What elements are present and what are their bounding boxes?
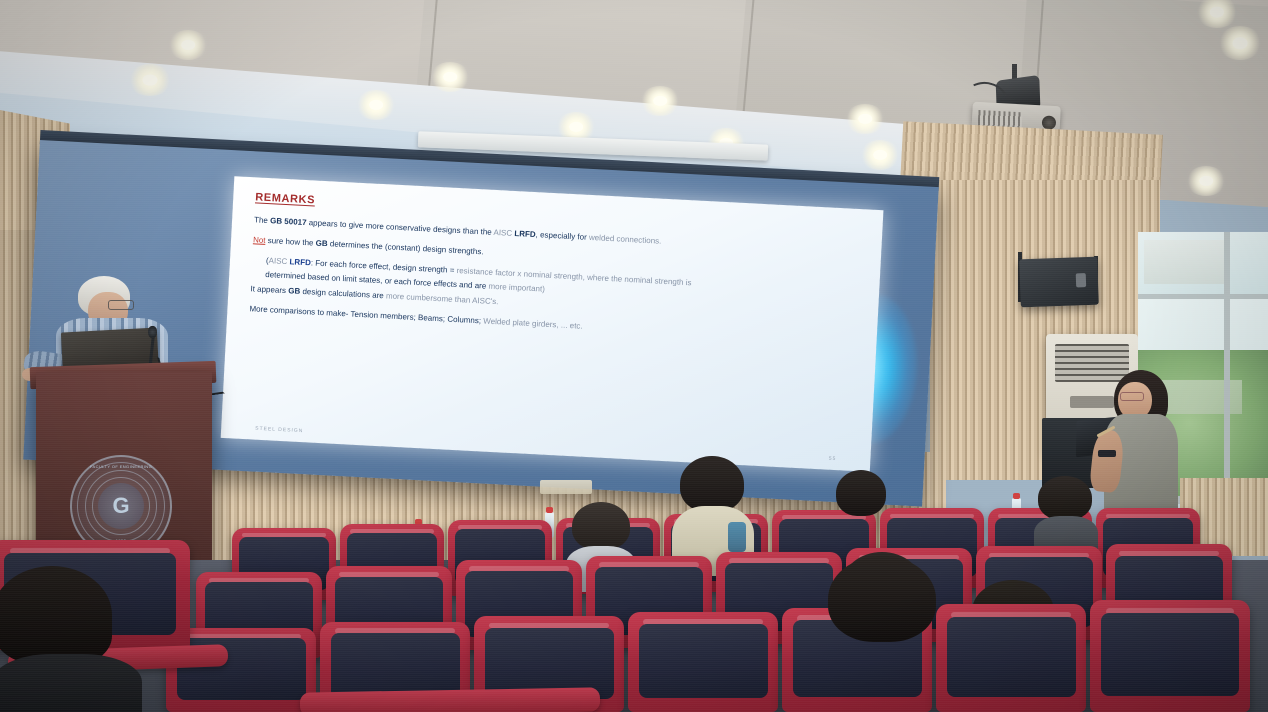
seat-armrest xyxy=(300,687,600,712)
attendee-glasses xyxy=(1120,392,1144,401)
slide-text-run: Not xyxy=(253,235,266,245)
slide-text-run: It appears xyxy=(250,284,288,295)
foreground-attendee xyxy=(828,556,948,686)
slide-text-run: . xyxy=(496,297,499,306)
slide-text-run: GB xyxy=(288,286,300,296)
emblem-monogram: G xyxy=(98,483,144,529)
slide-text-run: ) xyxy=(542,285,545,294)
slide-text-run: Welded plate girders xyxy=(483,316,557,329)
slide-text-run: LRFD xyxy=(514,229,536,239)
emblem-top-text: FACULTY OF ENGINEERING xyxy=(72,464,170,469)
slide-text-run: AISC xyxy=(268,256,287,266)
slide-text-run: LRFD xyxy=(289,257,311,267)
wall-speaker xyxy=(1019,257,1099,308)
auditorium-seat[interactable] xyxy=(1090,600,1250,712)
window-mullion-vertical xyxy=(1224,232,1230,500)
slide-text-run: AISC xyxy=(493,228,512,238)
ceiling-downlight xyxy=(860,140,900,170)
ceiling-downlight xyxy=(430,62,470,92)
slide-text-run: The xyxy=(254,215,270,225)
slide-page-number: 55 xyxy=(829,456,837,462)
ceiling-downlight xyxy=(1218,26,1262,60)
slide-text-run: more important xyxy=(488,282,542,294)
slide-text-run: connections. xyxy=(614,234,662,245)
slide-text-run: , especially for xyxy=(535,230,589,242)
ceiling-downlight xyxy=(845,104,885,134)
foreground-attendee xyxy=(0,566,132,712)
exterior-building xyxy=(1144,240,1230,284)
slide-text-run: GB 50017 xyxy=(270,216,307,227)
auditorium-seat[interactable] xyxy=(936,604,1086,712)
ceiling-downlight xyxy=(356,90,396,120)
slide-text-run: appears to give more conservative design… xyxy=(306,218,493,237)
slide-text-run: sure how the xyxy=(265,236,316,248)
ceiling-downlight xyxy=(1186,166,1226,196)
slide-text-run: : For each force effect, design strength… xyxy=(311,258,457,275)
slide-text-run: resistance factor x nominal strength xyxy=(456,266,583,282)
slide-text-run: determines the (constant) design strengt… xyxy=(327,239,483,256)
air-conditioner-grille xyxy=(1055,344,1129,382)
presentation-slide: REMARKS The GB 50017 appears to give mor… xyxy=(221,176,884,472)
wall-sign-plate xyxy=(540,480,592,494)
slide-text-run: welded xyxy=(589,233,615,243)
slide-body: The GB 50017 appears to give more conser… xyxy=(249,215,859,346)
slide-text-run: design calculations are xyxy=(300,287,386,300)
ceiling-downlight xyxy=(640,86,680,116)
seated-attendee xyxy=(1034,476,1098,542)
seated-attendee xyxy=(672,456,754,566)
lecture-hall-photo: REMARKS The GB 50017 appears to give mor… xyxy=(0,0,1268,712)
attendee-wristwatch xyxy=(1098,450,1116,457)
auditorium-seat[interactable] xyxy=(628,612,778,712)
slide-text-run: more cumbersome than xyxy=(386,292,473,306)
slide-text-run: More comparisons to make- Tension member… xyxy=(249,304,483,325)
seated-attendee xyxy=(832,470,890,534)
ceiling-downlight xyxy=(168,30,208,60)
slide-text-run: , ... etc. xyxy=(556,320,583,330)
air-conditioner-control-panel[interactable] xyxy=(1070,396,1114,408)
slide-text-run: , where the nominal strength is xyxy=(582,272,691,287)
ceiling-downlight xyxy=(128,64,172,96)
slide-text-run: AISC's xyxy=(472,296,497,306)
presenter-glasses xyxy=(108,300,134,310)
slide-text-run: GB xyxy=(315,238,327,248)
